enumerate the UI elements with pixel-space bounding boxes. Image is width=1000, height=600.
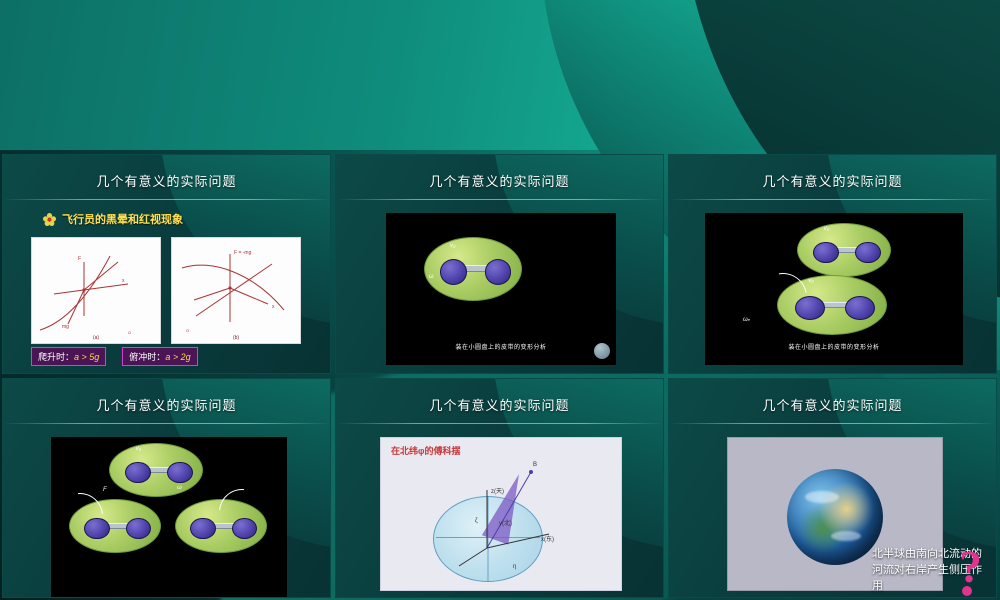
disc-top: v₀ ω xyxy=(424,237,522,301)
svg-text:F = -mg: F = -mg xyxy=(234,250,252,256)
disc-top: v₀ xyxy=(109,443,203,497)
slide1-heading-row: 飞行员的黑晕和红视现象 xyxy=(43,211,183,227)
flower-icon xyxy=(43,213,56,226)
pulley-left xyxy=(190,518,215,540)
pulley-left xyxy=(440,259,467,285)
video-caption: 装在小圆盘上的皮带的变形分析 xyxy=(705,342,963,351)
pulley-right xyxy=(845,296,875,320)
figure-b-caption: (b) xyxy=(172,335,300,341)
figure-a-diagram: F x mg O xyxy=(32,238,160,343)
symbol-v0: v₀ xyxy=(450,243,456,249)
title-divider xyxy=(669,199,996,200)
video-frame[interactable]: v₀ F ω xyxy=(51,437,287,597)
svg-text:F: F xyxy=(78,256,81,262)
figure-a-caption: (a) xyxy=(32,335,160,341)
symbol-omega: ω xyxy=(429,274,434,280)
pulley-right xyxy=(855,242,881,264)
slide-title: 几个有意义的实际问题 xyxy=(669,379,996,414)
slide-thumbnail-4[interactable]: 几个有意义的实际问题 v₀ F xyxy=(2,378,331,598)
slide-grid: 几个有意义的实际问题 飞行员的黑晕和红视现象 xyxy=(0,152,1000,600)
axis-label-y: y(北) xyxy=(499,518,512,527)
axis-label-zeta: ζ xyxy=(475,518,478,524)
cloud-1 xyxy=(805,491,839,503)
disc-upper: v₀ xyxy=(797,223,891,277)
slide1-figures: F x mg O (a) F = -mg xyxy=(31,237,301,344)
symbol-omega: ω xyxy=(177,485,182,491)
note-climb-formula: a > 5g xyxy=(74,352,99,362)
figure-a: F x mg O (a) xyxy=(31,237,161,344)
title-divider xyxy=(3,199,330,200)
pulley-right xyxy=(167,462,193,484)
axis-label-eta: η xyxy=(513,564,516,570)
slide-thumbnail-2[interactable]: 几个有意义的实际问题 v₀ ω 装在小圆盘上的皮带的变形分析 xyxy=(335,154,664,374)
symbol-v0: v₀ xyxy=(136,446,142,452)
slide-title: 几个有意义的实际问题 xyxy=(3,155,330,190)
slide-thumbnail-3[interactable]: 几个有意义的实际问题 v₀ v₀ ωe 装在小圆盘上的皮带的变形分析 xyxy=(668,154,997,374)
symbol-v0: v₀ xyxy=(824,226,830,232)
foucault-axes xyxy=(381,438,621,590)
pulley-right xyxy=(126,518,151,540)
note-dive: 俯冲时：a > 2g xyxy=(122,347,197,366)
pulley-left xyxy=(125,462,151,484)
annotation-dot xyxy=(962,586,972,596)
axis-label-z: z(天) xyxy=(491,486,504,495)
slide-thumbnail-1[interactable]: 几个有意义的实际问题 飞行员的黑晕和红视现象 xyxy=(2,154,331,374)
watermark-logo xyxy=(594,343,610,359)
video-frame[interactable]: v₀ ω 装在小圆盘上的皮带的变形分析 xyxy=(386,213,616,365)
title-divider xyxy=(669,423,996,424)
figure-b: F = -mg x O (b) xyxy=(171,237,301,344)
svg-text:mg: mg xyxy=(62,324,69,330)
note-climb-label: 爬升时： xyxy=(38,352,74,362)
note-dive-formula: a > 2g xyxy=(165,352,190,362)
figure-b-diagram: F = -mg x O xyxy=(172,238,300,343)
title-divider xyxy=(336,199,663,200)
title-divider xyxy=(336,423,663,424)
video-frame[interactable]: v₀ v₀ ωe 装在小圆盘上的皮带的变形分析 xyxy=(705,213,963,365)
slide-title: 几个有意义的实际问题 xyxy=(336,155,663,190)
axis-label-x: x(东) xyxy=(541,534,554,543)
slide-thumbnail-5[interactable]: 几个有意义的实际问题 在北纬φ的傅科摆 z(天) y(北) x(东) ζ η xyxy=(335,378,664,598)
symbol-omega: ωe xyxy=(743,317,750,323)
earth-globe xyxy=(787,469,883,565)
video-caption: 装在小圆盘上的皮带的变形分析 xyxy=(386,342,616,351)
svg-text:x: x xyxy=(122,278,125,284)
slide1-notes: 爬升时：a > 5g 俯冲时：a > 2g xyxy=(31,347,198,366)
note-climb: 爬升时：a > 5g xyxy=(31,347,106,366)
slide-title: 几个有意义的实际问题 xyxy=(336,379,663,414)
title-divider xyxy=(3,423,330,424)
symbol-v0-lower: v₀ xyxy=(808,278,814,284)
pulley-left xyxy=(813,242,839,264)
cloud-2 xyxy=(831,531,861,541)
slide-title: 几个有意义的实际问题 xyxy=(3,379,330,414)
slide1-heading-text: 飞行员的黑晕和红视现象 xyxy=(62,211,183,227)
presentation-slide-sorter: 几个有意义的实际问题 飞行员的黑晕和红视现象 xyxy=(0,0,1000,600)
pulley-right xyxy=(485,259,512,285)
note-dive-label: 俯冲时： xyxy=(129,352,165,362)
symbol-F: F xyxy=(103,487,107,493)
annotation-question-mark: ? xyxy=(959,544,982,590)
axis-label-B: B xyxy=(533,462,537,468)
slide-title: 几个有意义的实际问题 xyxy=(669,155,996,190)
svg-text:O: O xyxy=(186,328,189,333)
svg-text:x: x xyxy=(272,304,275,310)
foucault-figure: 在北纬φ的傅科摆 z(天) y(北) x(东) ζ η B xyxy=(380,437,622,591)
